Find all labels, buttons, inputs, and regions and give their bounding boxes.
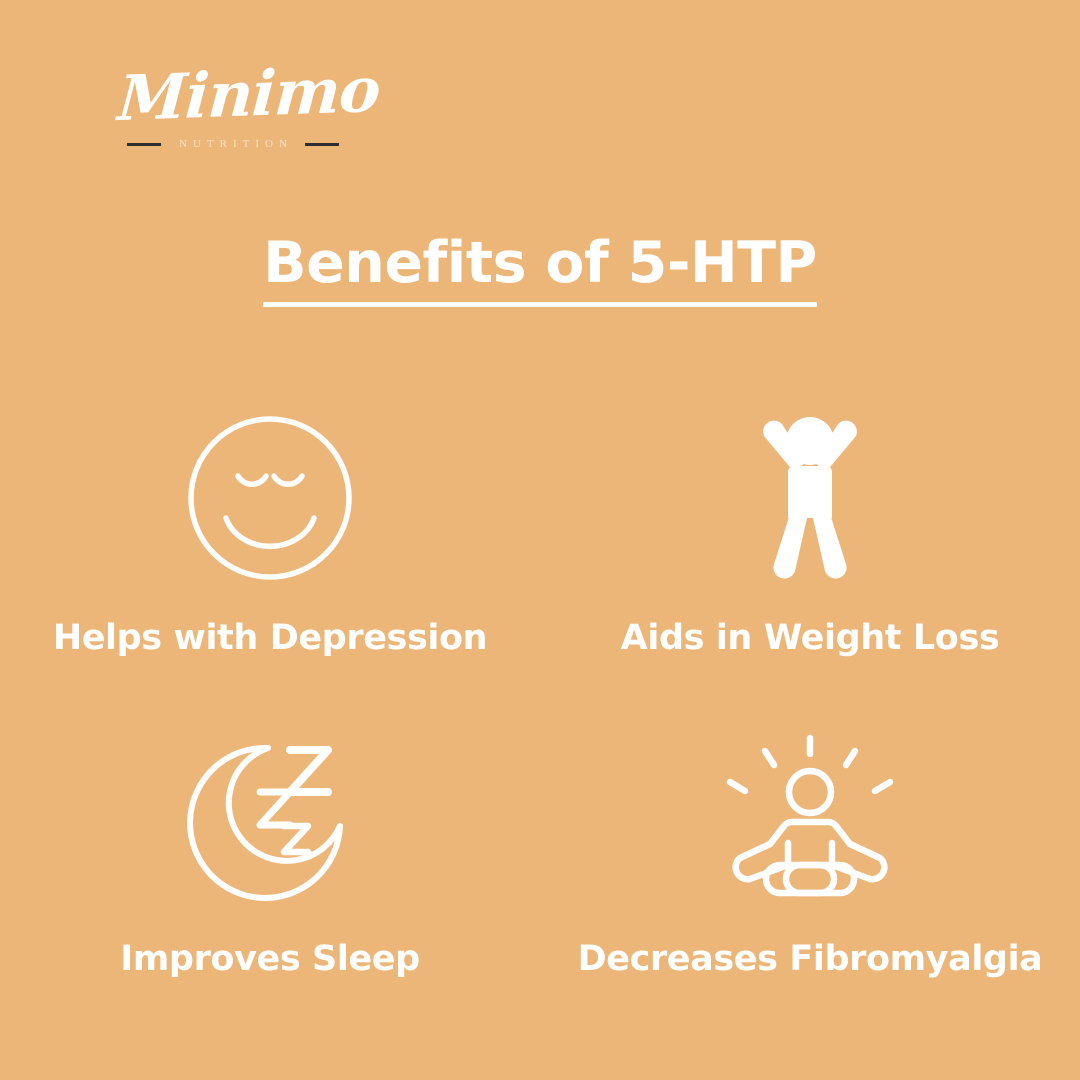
benefits-grid: Helps with Depression Aid (0, 400, 1080, 1040)
page-title-underline (263, 302, 817, 307)
page-title-text: Benefits of 5-HTP (263, 230, 817, 296)
meditating-person-icon (720, 720, 900, 920)
benefit-item-fibromyalgia: Decreases Fibromyalgia (540, 720, 1080, 1040)
person-arms-raised-icon (744, 400, 876, 595)
benefit-label-weight-loss: Aids in Weight Loss (621, 617, 1000, 659)
benefit-label-sleep: Improves Sleep (120, 938, 420, 980)
crescent-moon-zzz-icon (184, 720, 356, 920)
benefit-item-weight-loss: Aids in Weight Loss (540, 400, 1080, 720)
page-title-wrapper: Benefits of 5-HTP (0, 232, 1080, 307)
benefit-item-sleep: Improves Sleep (0, 720, 540, 1040)
logo-dash-left-icon (127, 143, 161, 146)
brand-subtitle: NUTRITION (173, 138, 293, 150)
benefit-item-depression: Helps with Depression (0, 400, 540, 720)
brand-logo: Minimo NUTRITION (118, 58, 348, 166)
brand-subtitle-row: NUTRITION (118, 138, 348, 150)
logo-dash-right-icon (305, 143, 339, 146)
page-title: Benefits of 5-HTP (259, 232, 821, 307)
smiley-face-icon (186, 400, 354, 595)
benefit-label-depression: Helps with Depression (53, 617, 487, 659)
benefit-label-fibromyalgia: Decreases Fibromyalgia (578, 938, 1043, 980)
poster-canvas: Minimo NUTRITION Benefits of 5-HTP (0, 0, 1080, 1080)
brand-wordmark: Minimo (115, 54, 350, 136)
